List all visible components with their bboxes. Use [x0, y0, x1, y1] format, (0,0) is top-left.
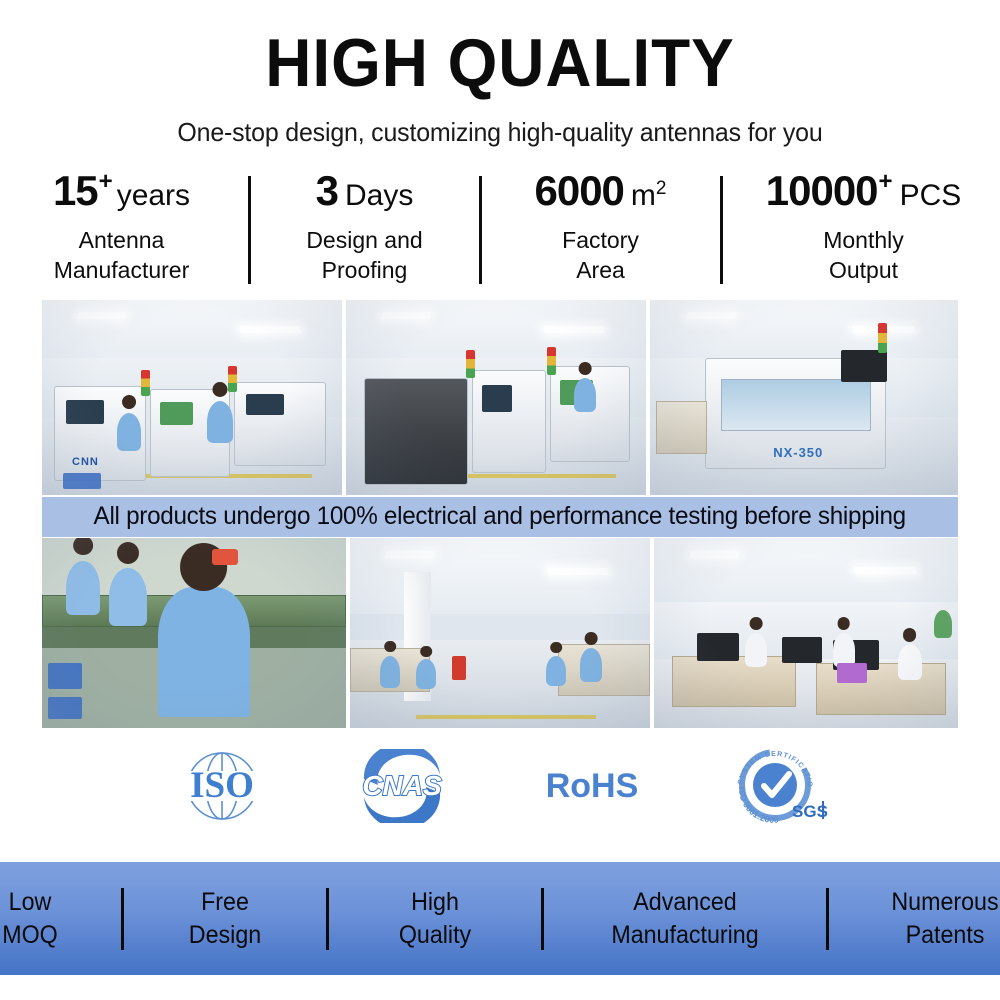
rohs-text-icon: RoHS — [528, 759, 656, 813]
feature-item-high-quality[interactable]: High Quality — [336, 886, 533, 951]
testing-banner-text: All products undergo 100% electrical and… — [94, 502, 906, 531]
certifications-row: ISO CNAS RoHS SYSTEM CERTIFICATION — [0, 742, 1000, 830]
stat-label: Antenna Manufacturer — [54, 225, 190, 286]
stat-item-output: 10000 + PCS Monthly Output — [723, 170, 1000, 288]
stat-number: 6000 — [534, 170, 623, 212]
stat-superscript: + — [879, 170, 893, 194]
stat-headline: 6000 m2 — [534, 170, 666, 216]
cert-cnas: CNAS — [348, 749, 456, 823]
testing-banner: All products undergo 100% electrical and… — [42, 497, 958, 537]
iso-globe-icon: ISO — [168, 749, 276, 823]
photo-wave-soldering-machine: NX-350 — [650, 300, 958, 495]
page-subtitle: One-stop design, customizing high-qualit… — [20, 101, 980, 148]
stat-item-days: 3 Days Design and Proofing — [251, 170, 479, 288]
stat-headline: 3 Days — [316, 170, 414, 216]
stat-unit: years — [117, 181, 190, 211]
photo-worker-assembly-bench — [42, 538, 346, 728]
feature-divider — [541, 888, 544, 950]
photo-gallery: CNN NX-350 — [42, 300, 958, 728]
feature-divider — [121, 888, 124, 950]
stat-label: Design and Proofing — [306, 225, 422, 286]
stat-unit: PCS — [900, 181, 962, 211]
stat-unit: Days — [345, 181, 413, 211]
stats-row: 15 + years Antenna Manufacturer 3 Days D… — [0, 170, 1000, 288]
cert-label-iso: ISO — [190, 765, 254, 806]
features-bar: Low MOQ Free Design High Quality Advance… — [0, 862, 1000, 975]
photo-row-bottom — [42, 538, 958, 728]
stat-label: Factory Area — [562, 225, 639, 286]
stat-superscript: + — [99, 170, 113, 194]
stat-number: 10000 — [766, 170, 878, 212]
stat-unit-text: m — [631, 179, 656, 212]
stat-headline: 10000 + PCS — [766, 170, 962, 216]
stat-unit: m2 — [631, 181, 667, 211]
stat-number: 15 — [53, 170, 98, 212]
cert-sgs: SYSTEM CERTIFICATION ISO 9001:2000 SGS — [728, 747, 832, 825]
photo-smt-assembly-line: CNN — [42, 300, 342, 495]
feature-item-free-design[interactable]: Free Design — [131, 886, 319, 951]
feature-divider — [826, 888, 829, 950]
stat-number: 3 — [316, 170, 338, 212]
feature-item-advanced-manufacturing[interactable]: Advanced Manufacturing — [554, 886, 816, 951]
feature-item-low-moq[interactable]: Low MOQ — [0, 886, 115, 951]
stat-label: Monthly Output — [823, 225, 904, 286]
sgs-check-seal-icon: SYSTEM CERTIFICATION ISO 9001:2000 SGS — [728, 747, 832, 825]
cert-rohs: RoHS — [528, 759, 656, 813]
stat-unit-superscript: 2 — [656, 178, 667, 199]
photo-engineering-office — [654, 538, 958, 728]
stat-item-area: 6000 m2 Factory Area — [482, 170, 720, 288]
feature-divider — [326, 888, 329, 950]
photo-row-top: CNN NX-350 — [42, 300, 958, 495]
stat-headline: 15 + years — [53, 170, 190, 216]
cert-iso: ISO — [168, 749, 276, 823]
cnas-swirl-icon: CNAS — [348, 749, 456, 823]
stat-item-years: 15 + years Antenna Manufacturer — [0, 170, 248, 288]
cert-label-rohs: RoHS — [546, 767, 639, 805]
photo-production-workshop-aisle — [350, 538, 650, 728]
page-title: HIGH QUALITY — [30, 0, 970, 101]
cert-label-cnas: CNAS — [362, 770, 442, 801]
feature-item-numerous-patents[interactable]: Numerous Patents — [837, 886, 1000, 951]
photo-pcb-printer-line — [346, 300, 646, 495]
